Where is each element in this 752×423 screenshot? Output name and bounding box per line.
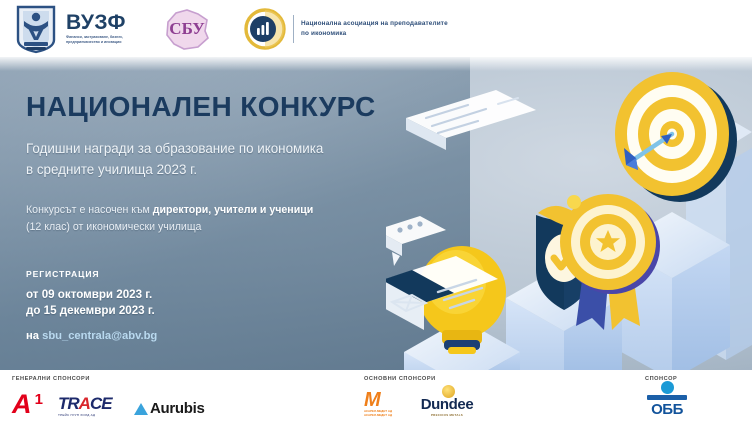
napi-logo: Национална асоциация на преподавателите … bbox=[244, 8, 451, 50]
description-prefix: Конкурсът е насочен към bbox=[26, 204, 153, 216]
header: ВУЗФ Финанси, застраховане, бизнес, пред… bbox=[0, 0, 752, 57]
sponsors-footer: ГЕНЕРАЛНИ СПОНСОРИ A 1 TRACE ТРЕЙС ГРУП … bbox=[0, 370, 752, 423]
trace-part1: TR bbox=[58, 394, 79, 413]
subtitle-line-1: Годишни награди за образование по иконом… bbox=[26, 139, 456, 160]
sponsor-group-label: ОСНОВНИ СПОНСОРИ bbox=[364, 376, 478, 382]
poster-root: ВУЗФ Финанси, застраховане, бизнес, пред… bbox=[0, 0, 752, 423]
napi-divider bbox=[293, 15, 294, 43]
sbu-logo: СБУ bbox=[160, 4, 214, 54]
trace-tagline: ТРЕЙС ГРУП ХОЛД АД bbox=[58, 413, 118, 417]
registration-email-prefix: на bbox=[26, 330, 42, 342]
sponsor-logo-asarel: M АСАРЕЛ-МЕДЕТ АД АСАРЕЛ-МЕДЕТ АД bbox=[364, 391, 400, 417]
subtitle: Годишни награди за образование по иконом… bbox=[26, 139, 456, 181]
description-line-2: (12 клас) от икономически училища bbox=[26, 219, 456, 236]
svg-text:СБУ: СБУ bbox=[169, 19, 205, 38]
sponsor-group-sponsor: СПОНСОР ОББ bbox=[645, 376, 689, 417]
napi-text: Национална асоциация на преподавателите … bbox=[301, 19, 451, 39]
trace-part3: CE bbox=[90, 394, 112, 413]
dartboard-target-icon bbox=[615, 72, 737, 202]
sbu-bulgaria-map-icon: СБУ bbox=[160, 4, 214, 54]
trace-wordmark: TRACE bbox=[58, 395, 118, 412]
aurubis-wordmark: Aurubis bbox=[150, 400, 205, 417]
registration-block: РЕГИСТРАЦИЯ от 09 октомври 2023 г. до 15… bbox=[26, 269, 456, 342]
description-emphasis: директори, учители и ученици bbox=[153, 204, 313, 216]
vuzf-emblem-icon bbox=[12, 4, 60, 54]
dundee-orb-icon bbox=[442, 385, 455, 398]
aurubis-triangle-icon bbox=[134, 403, 148, 415]
vuzf-subtitle: Финанси, застраховане, бизнес, предприем… bbox=[66, 35, 138, 45]
registration-email[interactable]: sbu_centrala@abv.bg bbox=[42, 330, 157, 342]
sponsor-logo-aurubis: Aurubis bbox=[134, 400, 205, 417]
obb-bar-icon bbox=[647, 395, 687, 400]
obb-dot-icon bbox=[661, 381, 674, 394]
main-copy: НАЦИОНАЛЕН КОНКУРС Годишни награди за об… bbox=[26, 92, 456, 342]
asarel-tagline: АСАРЕЛ-МЕДЕТ АД АСАРЕЛ-МЕДЕТ АД bbox=[364, 409, 400, 417]
vuzf-logo: ВУЗФ Финанси, застраховане, бизнес, пред… bbox=[12, 4, 138, 54]
registration-email-row: на sbu_centrala@abv.bg bbox=[26, 330, 456, 342]
dundee-wordmark: Dundee bbox=[416, 396, 478, 413]
vuzf-title: ВУЗФ bbox=[66, 12, 138, 33]
trace-part2: A bbox=[79, 394, 90, 413]
sponsor-group-general: ГЕНЕРАЛНИ СПОНСОРИ A 1 TRACE ТРЕЙС ГРУП … bbox=[12, 376, 205, 417]
sponsor-logo-dundee: Dundee PRECIOUS METALS bbox=[416, 396, 478, 417]
registration-label: РЕГИСТРАЦИЯ bbox=[26, 269, 456, 279]
description-line-1: Конкурсът е насочен към директори, учите… bbox=[26, 202, 456, 219]
description: Конкурсът е насочен към директори, учите… bbox=[26, 202, 456, 236]
sponsor-logo-obb: ОББ bbox=[645, 381, 689, 417]
registration-to: до 15 декември 2023 г. bbox=[26, 303, 456, 319]
napi-bar-chart-circle-icon bbox=[244, 8, 286, 50]
page-title: НАЦИОНАЛЕН КОНКУРС bbox=[26, 92, 456, 123]
a1-letter: A bbox=[12, 389, 32, 419]
obb-wordmark: ОББ bbox=[645, 402, 689, 417]
sponsor-group-label: ГЕНЕРАЛНИ СПОНСОРИ bbox=[12, 376, 205, 382]
subtitle-line-2: в средните училища 2023 г. bbox=[26, 160, 456, 181]
sponsor-logo-trace: TRACE ТРЕЙС ГРУП ХОЛД АД bbox=[58, 395, 118, 417]
asarel-mark: M bbox=[364, 391, 400, 409]
dundee-tagline: PRECIOUS METALS bbox=[416, 413, 478, 417]
sponsor-group-main: ОСНОВНИ СПОНСОРИ M АСАРЕЛ-МЕДЕТ АД АСАРЕ… bbox=[364, 376, 478, 417]
sponsor-logo-a1: A 1 bbox=[12, 391, 42, 417]
header-fade bbox=[0, 55, 752, 71]
registration-from: от 09 октомври 2023 г. bbox=[26, 287, 456, 303]
a1-digit: 1 bbox=[35, 391, 43, 408]
